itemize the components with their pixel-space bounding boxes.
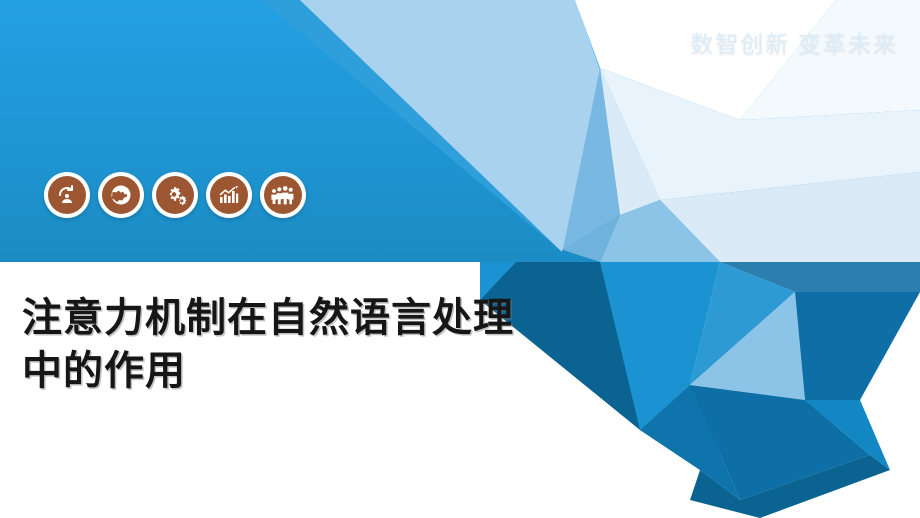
icon-row (44, 172, 306, 218)
globe-icon (102, 176, 140, 214)
header-tagline: 数智创新 变革未来 (690, 25, 898, 59)
gears-icon (156, 176, 194, 214)
people-group-icon (264, 176, 302, 214)
recycle-people-icon (48, 176, 86, 214)
page-title: 注意力机制在自然语言处理 中的作用 (22, 292, 582, 398)
presentation-slide: 数智创新 变革未来 (0, 0, 920, 518)
low-poly-background-artwork (0, 0, 920, 518)
title-line-1: 注意力机制在自然语言处理 (22, 292, 582, 345)
title-line-2: 中的作用 (22, 345, 582, 398)
icon-badge-gears[interactable] (152, 172, 198, 218)
icon-badge-recycle-people[interactable] (44, 172, 90, 218)
icon-badge-globe[interactable] (98, 172, 144, 218)
icon-badge-people-group[interactable] (260, 172, 306, 218)
bar-chart-growth-icon (210, 176, 248, 214)
icon-badge-bar-chart-growth[interactable] (206, 172, 252, 218)
